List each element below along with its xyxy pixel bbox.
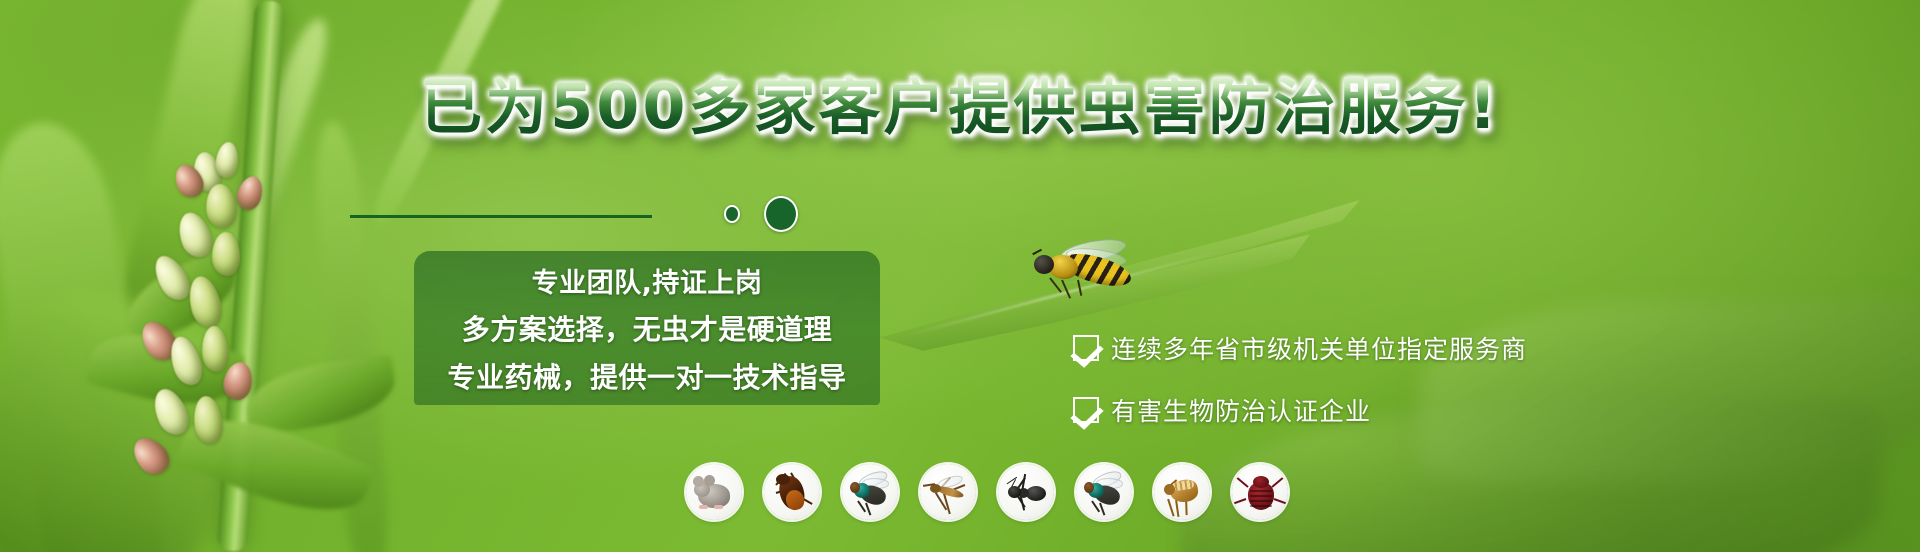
credentials-checklist: 连续多年省市级机关单位指定服务商 有害生物防治认证企业 bbox=[1073, 330, 1527, 428]
decorative-divider bbox=[350, 215, 652, 218]
decorative-large-dot-icon bbox=[764, 196, 798, 232]
hoverfly-icon bbox=[1032, 243, 1150, 301]
pest-icon-flea[interactable] bbox=[1154, 464, 1210, 520]
feature-line-3: 专业药械，提供一对一技术指导 bbox=[447, 356, 846, 396]
feature-panel-text: 专业团队,持证上岗 多方案选择，无虫才是硬道理 专业药械，提供一对一技术指导 bbox=[414, 251, 880, 405]
hoverfly-leg bbox=[1077, 280, 1082, 296]
pest-icon-mosquito[interactable] bbox=[920, 464, 976, 520]
list-item: 有害生物防治认证企业 bbox=[1073, 392, 1527, 428]
pest-icon-blowfly[interactable] bbox=[1076, 464, 1132, 520]
foreground-seed-head bbox=[150, 150, 380, 480]
feature-line-2: 多方案选择，无虫才是硬道理 bbox=[462, 308, 833, 348]
checkbox-checked-icon bbox=[1073, 397, 1099, 423]
hoverfly-leg bbox=[1061, 280, 1071, 299]
pest-icon-bedbug[interactable] bbox=[1232, 464, 1288, 520]
pest-icon-fly[interactable] bbox=[842, 464, 898, 520]
list-item: 连续多年省市级机关单位指定服务商 bbox=[1073, 330, 1527, 366]
checklist-label: 有害生物防治认证企业 bbox=[1111, 392, 1371, 428]
pest-icon-ant[interactable] bbox=[998, 464, 1054, 520]
pest-icon-mouse[interactable] bbox=[686, 464, 742, 520]
pest-icon-strip bbox=[686, 464, 1288, 520]
pest-icon-cockroach[interactable] bbox=[764, 464, 820, 520]
feature-line-1: 专业团队,持证上岗 bbox=[532, 261, 763, 300]
hoverfly-head bbox=[1034, 255, 1054, 274]
hoverfly-antenna bbox=[1032, 249, 1042, 255]
pest-control-hero-banner: 已为500多家客户提供虫害防治服务! 专业团队,持证上岗 多方案选择，无虫才是硬… bbox=[0, 0, 1920, 552]
checklist-label: 连续多年省市级机关单位指定服务商 bbox=[1111, 330, 1527, 366]
checkbox-checked-icon bbox=[1073, 335, 1099, 361]
decorative-small-dot-icon bbox=[724, 205, 740, 223]
